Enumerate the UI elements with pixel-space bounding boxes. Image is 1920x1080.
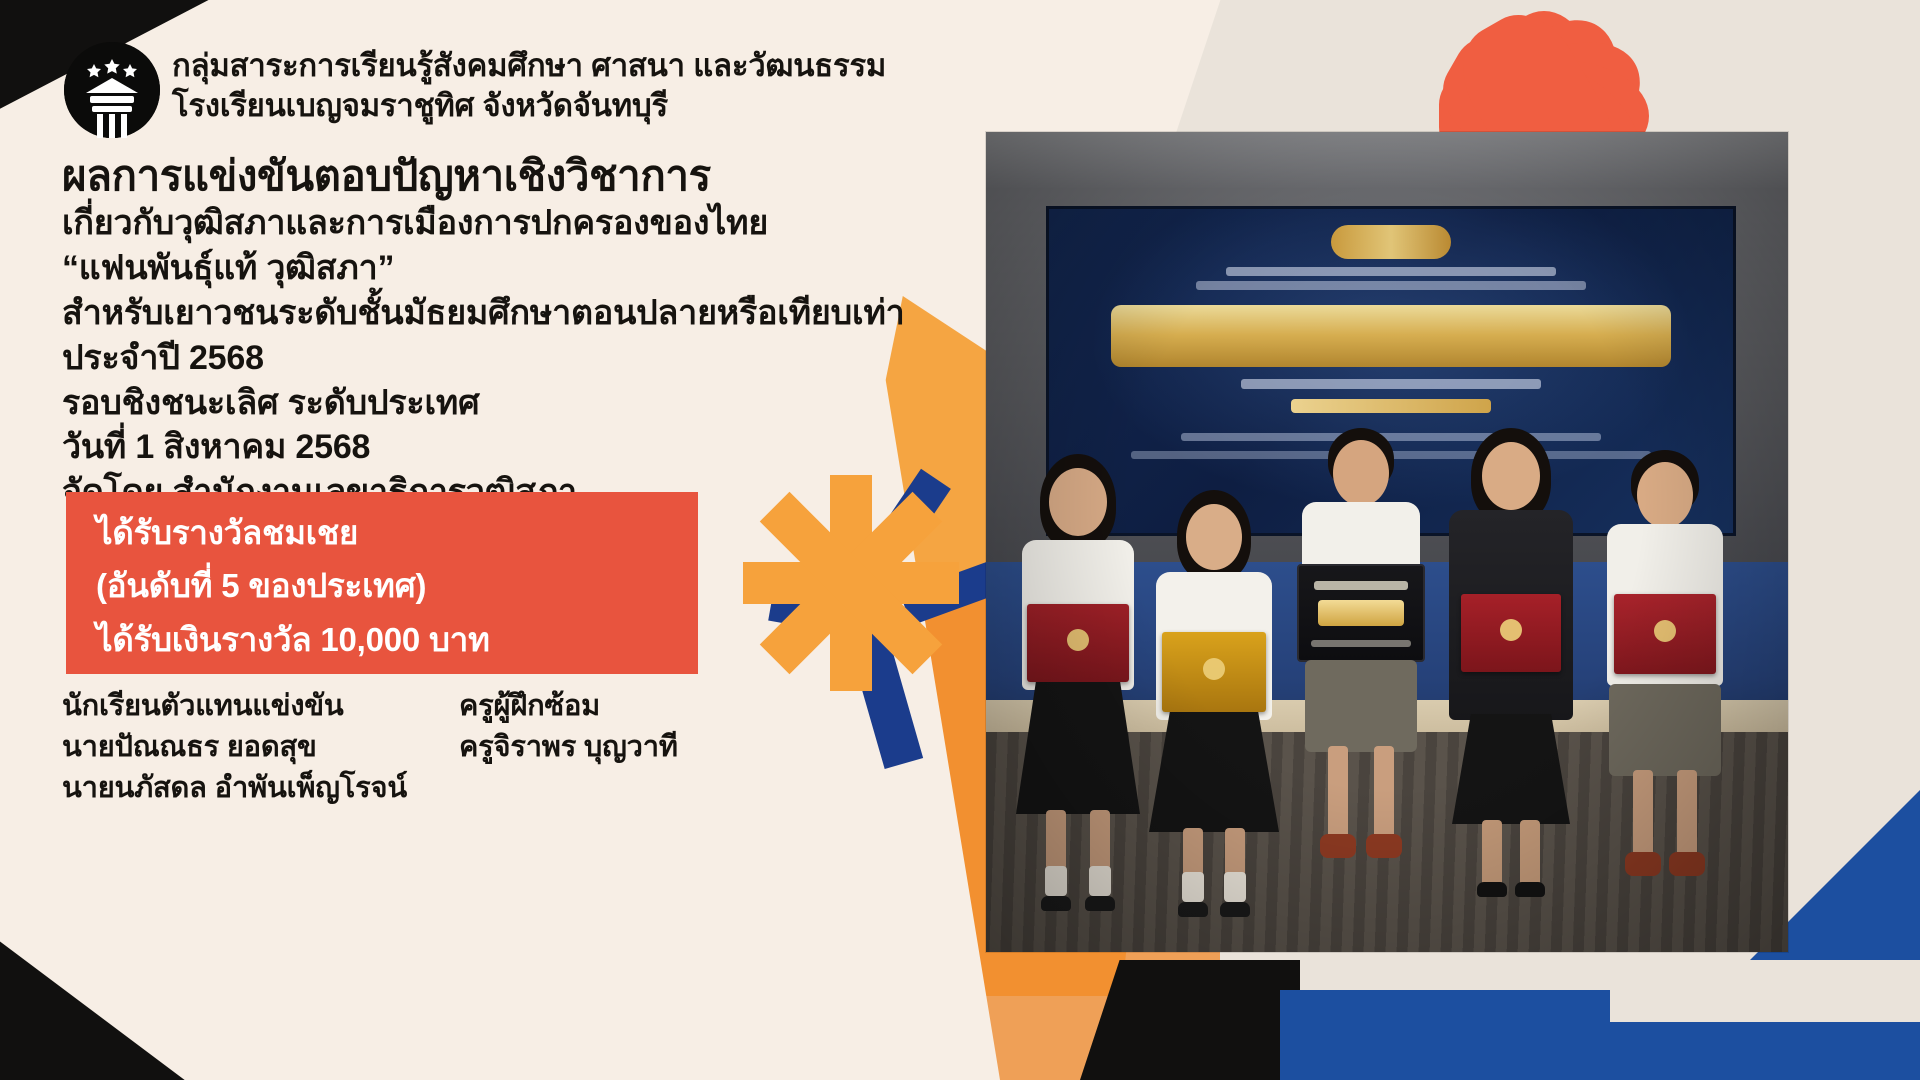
title-line-5-round: รอบชิงชนะเลิศ ระดับประเทศ	[62, 381, 962, 426]
poster-canvas: กลุ่มสาระการเรียนรู้สังคมศึกษา ศาสนา และ…	[0, 0, 1920, 1080]
page-title: ผลการแข่งขันตอบปัญหาเชิงวิชาการ	[62, 152, 962, 199]
corner-triangle-bottom-left	[0, 934, 190, 1080]
title-line-1: เกี่ยวกับวุฒิสภาและการเมืองการปกครองของไ…	[62, 201, 962, 246]
award-line-2-rank: (อันดับที่ 5 ของประเทศ)	[96, 559, 668, 612]
title-line-3: สำหรับเยาวชนระดับชั้นมัธยมศึกษาตอนปลายหร…	[62, 291, 962, 336]
award-line-1: ได้รับรางวัลชมเชย	[96, 506, 668, 559]
bottom-navy-bar	[1280, 990, 1610, 1080]
award-callout-box: ได้รับรางวัลชมเชย (อันดับที่ 5 ของประเทศ…	[66, 492, 698, 674]
org-line-1: กลุ่มสาระการเรียนรู้สังคมศึกษา ศาสนา และ…	[172, 46, 1012, 86]
title-line-4-year: ประจำปี 2568	[62, 336, 962, 381]
students-column: นักเรียนตัวแทนแข่งขัน นายปัณณธร ยอดสุข น…	[62, 686, 407, 810]
greek-column-stars-icon	[64, 42, 160, 138]
coach-column: ครูผู้ฝึกซ้อม ครูจิราพร บุญวาที	[459, 686, 678, 810]
org-line-2: โรงเรียนเบญจมราชูทิศ จังหวัดจันทบุรี	[172, 86, 1012, 126]
bottom-navy-bar-right	[1600, 1022, 1920, 1080]
student-name: นายปัณณธร ยอดสุข	[62, 727, 407, 768]
school-department-logo	[64, 42, 160, 138]
title-line-2-quoted: “แฟนพันธุ์แท้ วุฒิสภา”	[62, 246, 962, 291]
title-line-6-date: วันที่ 1 สิงหาคม 2568	[62, 425, 962, 470]
coach-heading: ครูผู้ฝึกซ้อม	[459, 686, 678, 727]
title-subtext: เกี่ยวกับวุฒิสภาและการเมืองการปกครองของไ…	[62, 201, 962, 515]
organisation-header: กลุ่มสาระการเรียนรู้สังคมศึกษา ศาสนา และ…	[172, 46, 1012, 125]
students-heading: นักเรียนตัวแทนแข่งขัน	[62, 686, 407, 727]
participants-footer: นักเรียนตัวแทนแข่งขัน นายปัณณธร ยอดสุข น…	[62, 686, 762, 810]
coach-name: ครูจิราพร บุญวาที	[459, 727, 678, 768]
photo-vignette	[986, 132, 1788, 952]
award-line-3-prize: ได้รับเงินรางวัล 10,000 บาท	[96, 613, 668, 666]
award-ceremony-photo	[986, 132, 1788, 952]
student-name: นายนภัสดล อำพันเพ็ญโรจน์	[62, 768, 407, 809]
title-block: ผลการแข่งขันตอบปัญหาเชิงวิชาการ เกี่ยวกั…	[62, 152, 962, 515]
